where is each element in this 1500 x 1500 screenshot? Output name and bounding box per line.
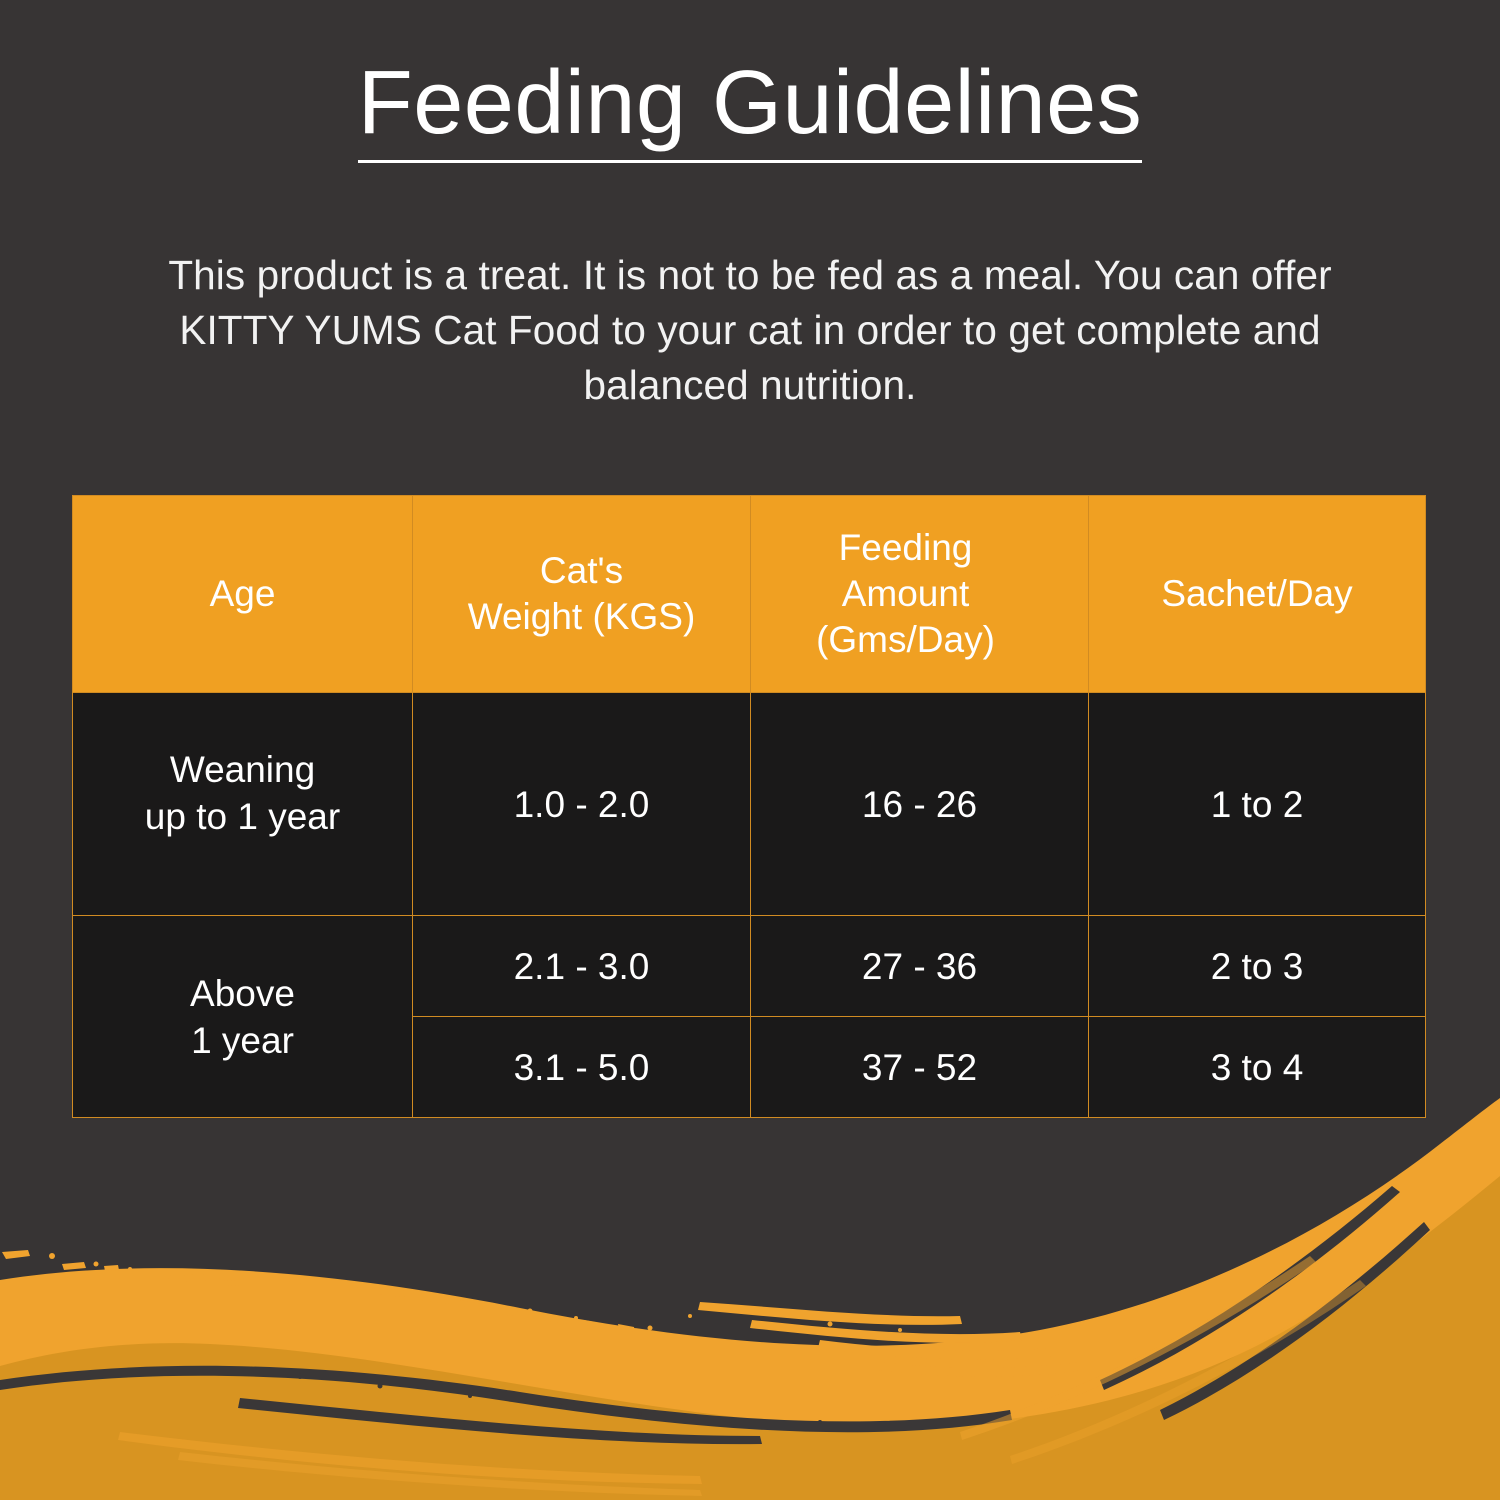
column-header-weight-line-1: Cat's	[540, 550, 623, 591]
cell-sachet-row-3: 3 to 4	[1089, 1017, 1426, 1118]
orange-brush-stroke-icon	[0, 1080, 1500, 1500]
page-title-container: Feeding Guidelines	[0, 58, 1500, 163]
column-header-feeding-line-3: (Gms/Day)	[816, 619, 995, 660]
page-title: Feeding Guidelines	[358, 58, 1143, 163]
cell-sachet-row-2: 2 to 3	[1089, 916, 1426, 1017]
cell-sachet-row-1: 1 to 2	[1089, 693, 1426, 916]
cell-feeding-row-1: 16 - 26	[751, 693, 1089, 916]
feeding-guidelines-table: Age Cat's Weight (KGS) Feeding Amount (G…	[72, 495, 1426, 1118]
column-header-age: Age	[73, 496, 413, 693]
table-row: Above 1 year 2.1 - 3.0 27 - 36 2 to 3	[73, 916, 1426, 1017]
cell-age-row-2-line-1: Above	[190, 973, 295, 1014]
cell-age-row-1-line-2: up to 1 year	[145, 796, 340, 837]
column-header-age-line-1: Age	[210, 573, 276, 614]
table-header: Age Cat's Weight (KGS) Feeding Amount (G…	[73, 496, 1426, 693]
cell-age-row-2: Above 1 year	[73, 916, 413, 1118]
column-header-feeding-line-1: Feeding	[839, 527, 973, 568]
cell-age-row-1-line-1: Weaning	[170, 749, 315, 790]
cell-feeding-row-3: 37 - 52	[751, 1017, 1089, 1118]
table-row: Weaning up to 1 year 1.0 - 2.0 16 - 26 1…	[73, 693, 1426, 916]
column-header-sachet-line-1: Sachet/Day	[1161, 573, 1352, 614]
cell-weight-row-1: 1.0 - 2.0	[413, 693, 751, 916]
column-header-sachet: Sachet/Day	[1089, 496, 1426, 693]
cell-weight-row-2: 2.1 - 3.0	[413, 916, 751, 1017]
cell-weight-row-3: 3.1 - 5.0	[413, 1017, 751, 1118]
table-header-row: Age Cat's Weight (KGS) Feeding Amount (G…	[73, 496, 1426, 693]
table-body: Weaning up to 1 year 1.0 - 2.0 16 - 26 1…	[73, 693, 1426, 1118]
cell-feeding-row-2: 27 - 36	[751, 916, 1089, 1017]
cell-age-row-1: Weaning up to 1 year	[73, 693, 413, 916]
cell-age-row-2-line-2: 1 year	[191, 1020, 294, 1061]
column-header-feeding: Feeding Amount (Gms/Day)	[751, 496, 1089, 693]
column-header-weight-line-2: Weight (KGS)	[468, 596, 696, 637]
column-header-weight: Cat's Weight (KGS)	[413, 496, 751, 693]
intro-paragraph: This product is a treat. It is not to be…	[150, 248, 1350, 413]
column-header-feeding-line-2: Amount	[842, 573, 970, 614]
feeding-guidelines-page: Feeding Guidelines This product is a tre…	[0, 0, 1500, 1500]
